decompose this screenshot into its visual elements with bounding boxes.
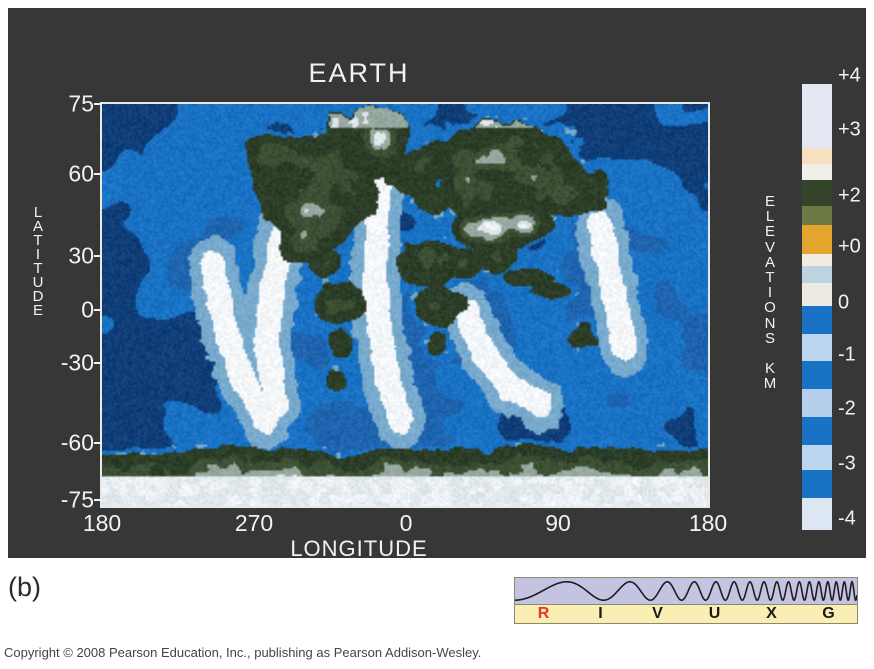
lat-tickmark-m75 <box>94 499 102 501</box>
cb-tick-m3: -3 <box>838 453 856 476</box>
spectrum-letter-r: R <box>515 605 572 623</box>
lat-label-char: E <box>30 304 46 318</box>
cb-label-char: V <box>762 240 778 255</box>
lat-tickmark-60 <box>94 173 102 175</box>
lon-tick-0: 0 <box>400 510 413 537</box>
colorbar-axis-label: E L E V A T I O N S K M <box>762 194 778 391</box>
lon-tick-180-left: 180 <box>83 510 121 537</box>
copyright-notice: Copyright © 2008 Pearson Education, Inc.… <box>4 645 481 660</box>
cb-tick-m4: -4 <box>838 508 856 531</box>
lat-tick-60: 60 <box>68 161 94 188</box>
colorbar-band-13 <box>802 417 832 445</box>
colorbar-band-14 <box>802 445 832 470</box>
lon-tick-270: 270 <box>235 510 273 537</box>
lat-tickmark-m60 <box>94 442 102 444</box>
spectrum-letters: R I V U X G <box>515 604 857 623</box>
spectrum-letter-g: G <box>800 605 857 623</box>
cb-label-char: L <box>762 209 778 224</box>
colorbar-band-12 <box>802 389 832 417</box>
spectrum-letter-u: U <box>686 605 743 623</box>
cb-label-char: K <box>762 361 778 376</box>
colorbar-band-1 <box>802 148 832 164</box>
lat-tickmark-m30 <box>94 362 102 364</box>
latitude-axis-label: L A T I T U D E <box>30 206 46 318</box>
longitude-axis-label: LONGITUDE <box>8 536 710 562</box>
colorbar-band-9 <box>802 306 832 334</box>
colorbar-gradient <box>802 84 832 530</box>
cb-tick-m1: -1 <box>838 344 856 367</box>
map-image <box>102 104 708 506</box>
cb-label-char: O <box>762 300 778 315</box>
lat-tick-m30: -30 <box>61 350 94 377</box>
colorbar-band-5 <box>802 225 832 254</box>
cb-label-char: T <box>762 270 778 285</box>
cb-label-gap <box>762 346 778 361</box>
panel-label-b: (b) <box>8 572 41 603</box>
spectrum-letter-i: I <box>572 605 629 623</box>
lat-tick-30: 30 <box>68 243 94 270</box>
colorbar-band-4 <box>802 206 832 226</box>
figure-panel: EARTH 75 60 30 0 -30 -60 -75 L A T I T U… <box>8 8 866 558</box>
lat-tick-m60: -60 <box>61 430 94 457</box>
spectrum-band: R I V U X G <box>514 577 858 624</box>
cb-tick-m2: -2 <box>838 398 856 421</box>
lon-tick-180-right: 180 <box>689 510 727 537</box>
cb-label-char: E <box>762 194 778 209</box>
cb-label-char: S <box>762 331 778 346</box>
colorbar-band-6 <box>802 254 832 266</box>
colorbar-band-15 <box>802 470 832 498</box>
lat-tickmark-0 <box>94 309 102 311</box>
cb-label-char: A <box>762 255 778 270</box>
lat-tickmark-30 <box>94 255 102 257</box>
colorbar-band-16 <box>802 498 832 530</box>
cb-tick-0: 0 <box>838 292 849 315</box>
colorbar-band-0 <box>802 84 832 148</box>
colorbar-band-3 <box>802 180 832 205</box>
cb-tick-p3: +3 <box>838 119 861 142</box>
colorbar-band-2 <box>802 164 832 181</box>
spectrum-letter-v: V <box>629 605 686 623</box>
cb-label-char: I <box>762 285 778 300</box>
colorbar-band-11 <box>802 361 832 389</box>
wave-icon <box>515 578 857 604</box>
colorbar-band-8 <box>802 283 832 306</box>
cb-tick-p2: +2 <box>838 185 861 208</box>
lat-tickmark-75 <box>94 103 102 105</box>
lat-tick-75: 75 <box>68 91 94 118</box>
wave-graphic <box>515 578 857 604</box>
page-title: EARTH <box>8 58 710 89</box>
spectrum-letter-x: X <box>743 605 800 623</box>
lon-tick-90: 90 <box>545 510 571 537</box>
earth-elevation-map <box>100 102 710 508</box>
cb-label-char: M <box>762 376 778 391</box>
cb-label-char: E <box>762 224 778 239</box>
lat-tick-0: 0 <box>81 297 94 324</box>
cb-tick-p4: +4 <box>838 65 861 88</box>
elevation-colorbar <box>802 84 832 530</box>
cb-tick-p1: +0 <box>838 236 861 259</box>
colorbar-band-10 <box>802 334 832 361</box>
colorbar-band-7 <box>802 266 832 283</box>
cb-label-char: N <box>762 316 778 331</box>
